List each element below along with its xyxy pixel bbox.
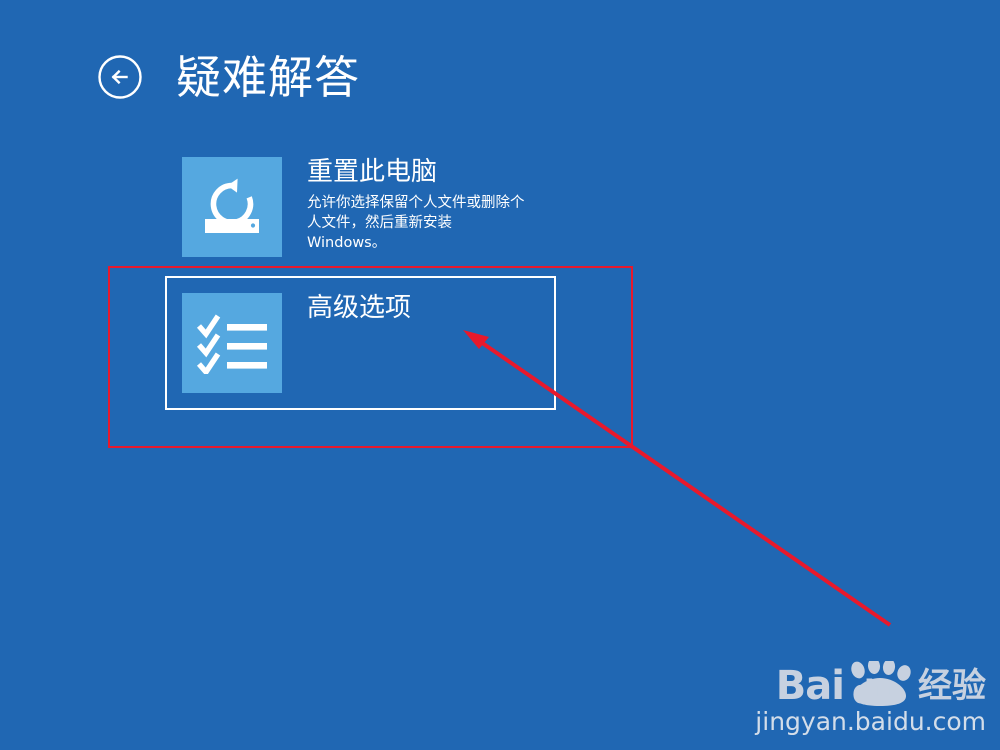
watermark-url: jingyan.baidu.com [755,708,986,736]
option-title: 重置此电脑 [307,157,525,187]
option-text-block: 重置此电脑 允许你选择保留个人文件或删除个人文件，然后重新安装 Windows。 [307,157,525,253]
page-title: 疑难解答 [176,55,360,100]
page-header: 疑难解答 [96,40,360,114]
reset-pc-icon [182,157,282,257]
option-description: 允许你选择保留个人文件或删除个人文件，然后重新安装 Windows。 [307,193,525,253]
option-reset-this-pc[interactable]: 重置此电脑 允许你选择保留个人文件或删除个人文件，然后重新安装 Windows。 [165,140,765,274]
watermark-brand-cn: 经验 [918,665,986,707]
option-text-block: 高级选项 [307,293,411,323]
recovery-screen: 疑难解答 重置此电脑 允许你选择保留个人文件或删除 [0,0,1000,750]
bear-paw-icon: du [844,661,916,707]
watermark-logo: Bai du 经验 [755,661,986,707]
option-title: 高级选项 [307,293,411,323]
baidu-watermark: Bai du 经验 jingyan.baidu.com [755,661,986,736]
checklist-icon [182,293,282,393]
options-list: 重置此电脑 允许你选择保留个人文件或删除个人文件，然后重新安装 Windows。 [165,140,765,410]
back-arrow-circle-icon[interactable] [96,53,144,101]
watermark-brand-du: du [852,675,898,709]
option-advanced-options[interactable]: 高级选项 [165,276,556,410]
watermark-brand-latin: Bai [776,665,844,707]
